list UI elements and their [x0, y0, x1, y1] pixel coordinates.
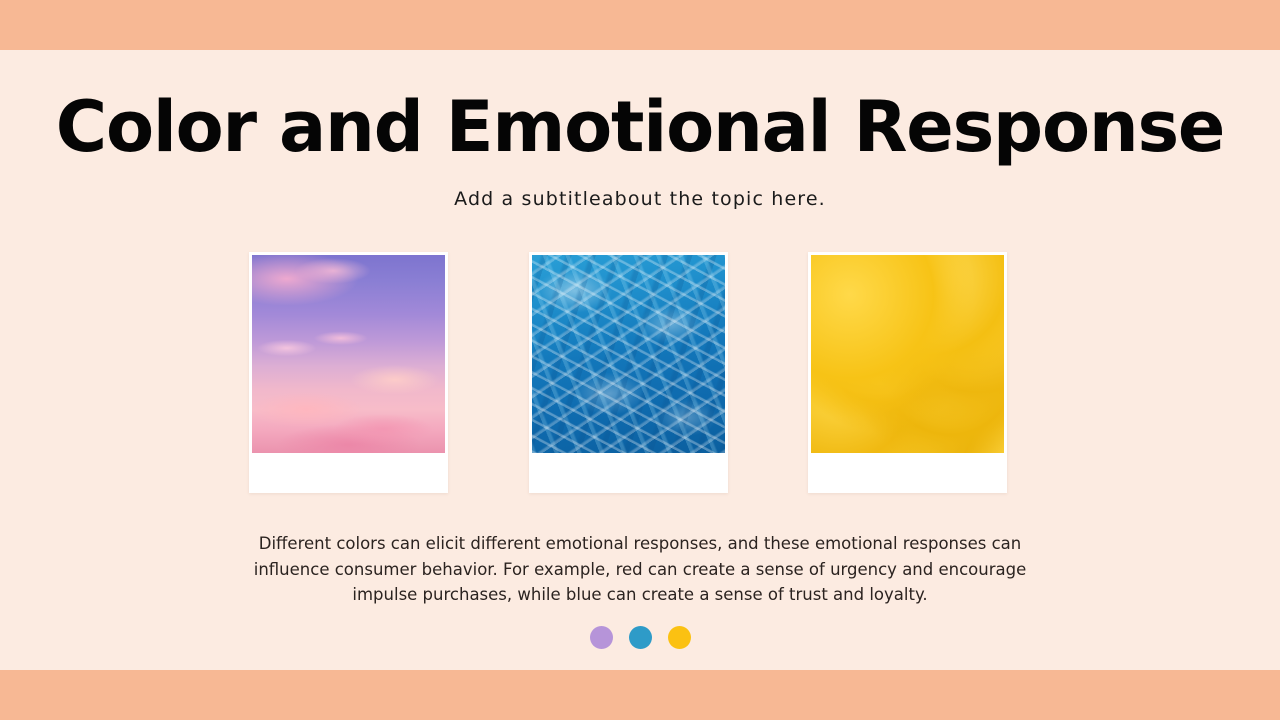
color-dot-row — [0, 626, 1280, 649]
photo-frame-water — [532, 255, 725, 453]
yellow-dot[interactable] — [668, 626, 691, 649]
purple-dot[interactable] — [590, 626, 613, 649]
photo-frame-beads — [811, 255, 1004, 453]
blue-dot[interactable] — [629, 626, 652, 649]
slide-canvas: Color and Emotional Response Add a subti… — [0, 0, 1280, 720]
photo-caption-strip-sunset — [252, 453, 445, 493]
body-paragraph: Different colors can elicit different em… — [240, 531, 1040, 608]
photo-card-row — [249, 252, 1007, 493]
photo-caption-strip-beads — [811, 453, 1004, 493]
page-subtitle: Add a subtitleabout the topic here. — [0, 188, 1280, 210]
bottom-accent-band — [0, 670, 1280, 720]
photo-card-sunset[interactable] — [249, 252, 448, 493]
yellow-beads-photo — [811, 255, 1004, 453]
page-title: Color and Emotional Response — [0, 92, 1280, 162]
photo-caption-strip-water — [532, 453, 725, 493]
photo-frame-sunset — [252, 255, 445, 453]
photo-card-beads[interactable] — [808, 252, 1007, 493]
pool-water-photo — [532, 255, 725, 453]
photo-card-water[interactable] — [529, 252, 728, 493]
top-accent-band — [0, 0, 1280, 50]
sunset-sky-photo — [252, 255, 445, 453]
